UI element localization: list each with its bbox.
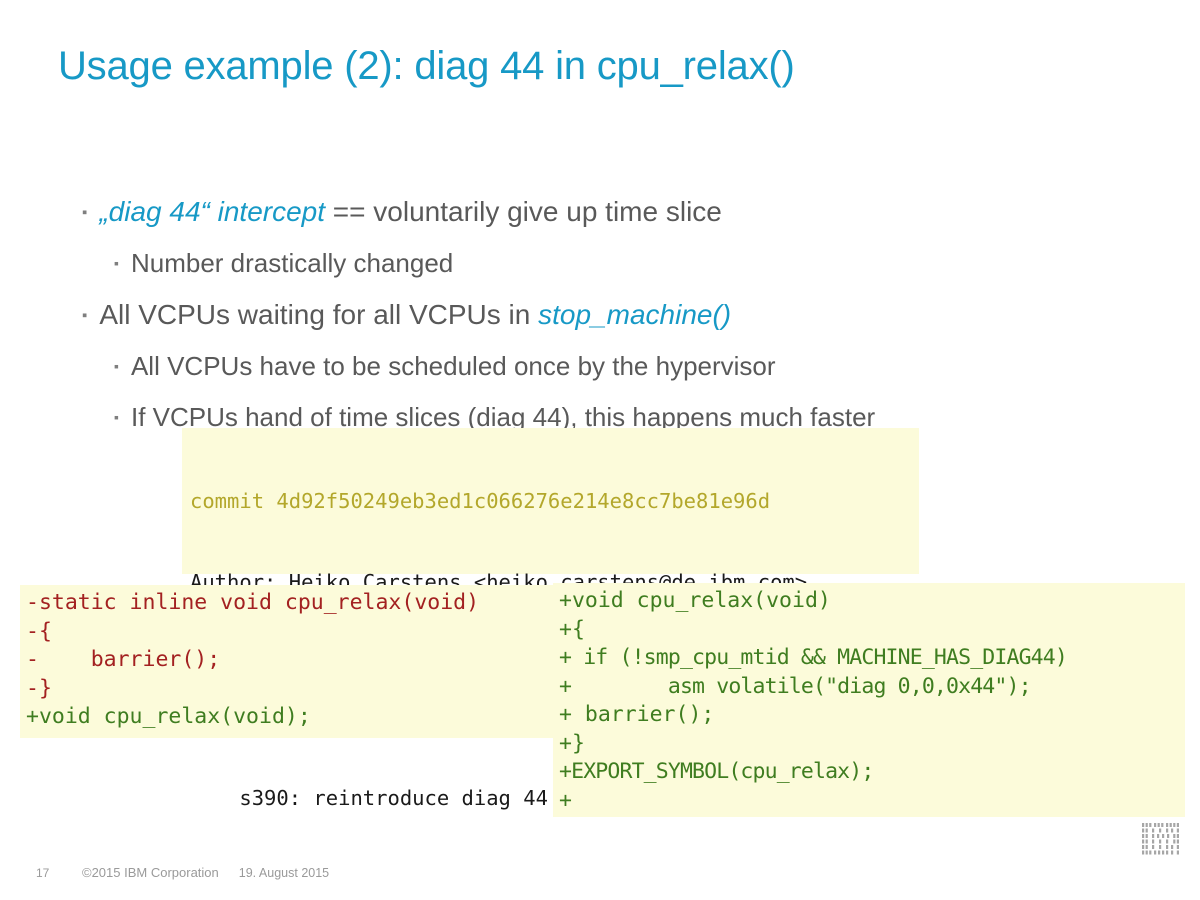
bullet-plain: Number drastically changed	[131, 248, 453, 278]
diff-added-line: +EXPORT_SYMBOL(cpu_relax);	[559, 758, 1185, 787]
slide-footer: 17 ©2015 IBM Corporation 19. August 2015	[36, 865, 329, 880]
bullet-text: „diag 44“ intercept == voluntarily give …	[99, 188, 1142, 235]
bullet-text: All VCPUs have to be scheduled once by t…	[131, 343, 1142, 390]
diff-before-block: -static inline void cpu_relax(void)-{- b…	[20, 585, 553, 738]
bullet-plain: All VCPUs have to be scheduled once by t…	[131, 351, 776, 381]
diff-added-line: +}	[559, 730, 1185, 759]
diff-added-line: +void cpu_relax(void)	[559, 587, 1185, 616]
bullet-marker-icon: ▪	[82, 292, 87, 339]
commit-hash-line: commit 4d92f50249eb3ed1c066276e214e8cc7b…	[190, 488, 919, 515]
bullet-item: ▪All VCPUs have to be scheduled once by …	[114, 343, 1142, 394]
diff-added-line: + if (!smp_cpu_mtid && MACHINE_HAS_DIAG4…	[559, 644, 1185, 673]
bullet-emphasis: „diag 44“ intercept	[99, 196, 325, 227]
bullet-list: ▪„diag 44“ intercept == voluntarily give…	[82, 188, 1142, 445]
bullet-text: All VCPUs waiting for all VCPUs in stop_…	[99, 291, 1142, 338]
bullet-plain: All VCPUs waiting for all VCPUs in	[99, 299, 538, 330]
bullet-item: ▪Number drastically changed	[114, 240, 1142, 291]
diff-after-block: +void cpu_relax(void)+{+ if (!smp_cpu_mt…	[553, 583, 1185, 817]
bullet-text: Number drastically changed	[131, 240, 1142, 287]
bullet-item: ▪„diag 44“ intercept == voluntarily give…	[82, 188, 1142, 240]
diff-added-line: + asm volatile("diag 0,0,0x44");	[559, 673, 1185, 702]
diff-removed-line: -{	[26, 618, 553, 647]
bullet-marker-icon: ▪	[82, 189, 87, 236]
bullet-marker-icon: ▪	[114, 394, 119, 441]
diff-added-line: + barrier();	[559, 701, 1185, 730]
page-title: Usage example (2): diag 44 in cpu_relax(…	[58, 44, 795, 89]
commit-message-block: commit 4d92f50249eb3ed1c066276e214e8cc7b…	[182, 428, 919, 574]
diff-removed-line: - barrier();	[26, 646, 553, 675]
diff-added-line: +	[559, 787, 1185, 816]
diff-added-line: +void cpu_relax(void);	[26, 703, 553, 732]
copyright-text: ©2015 IBM Corporation	[82, 865, 219, 880]
diff-removed-line: -}	[26, 675, 553, 704]
bullet-item: ▪All VCPUs waiting for all VCPUs in stop…	[82, 291, 1142, 343]
bullet-emphasis: stop_machine()	[538, 299, 731, 330]
bullet-plain: == voluntarily give up time slice	[325, 196, 722, 227]
page-number: 17	[36, 866, 82, 880]
diff-added-line: +{	[559, 616, 1185, 645]
bullet-marker-icon: ▪	[114, 240, 119, 287]
diff-removed-line: -static inline void cpu_relax(void)	[26, 589, 553, 618]
slide-date: 19. August 2015	[239, 866, 329, 880]
bullet-marker-icon: ▪	[114, 343, 119, 390]
ibm-logo	[1140, 822, 1186, 864]
